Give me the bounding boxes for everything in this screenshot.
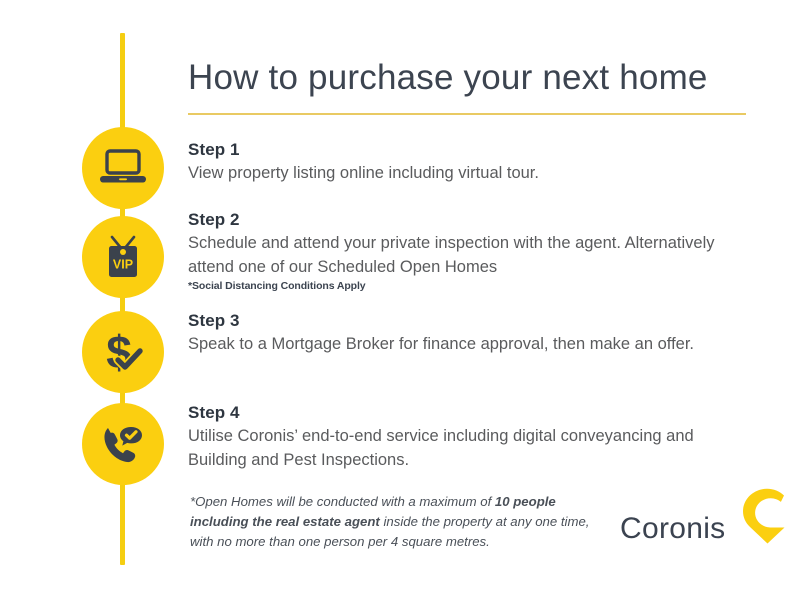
step-item-1: Step 1 View property listing online incl… xyxy=(188,139,750,186)
step-3-heading: Step 3 xyxy=(188,310,750,331)
step-2-note: *Social Distancing Conditions Apply xyxy=(188,280,750,294)
step-4-body: Utilise Coronis’ end-to-end service incl… xyxy=(188,425,750,472)
step-1-body: View property listing online including v… xyxy=(188,162,750,185)
vip-tag-icon: VIP xyxy=(100,233,146,281)
step-item-3: Step 3 Speak to a Mortgage Broker for fi… xyxy=(188,310,750,357)
step-3-body: Speak to a Mortgage Broker for finance a… xyxy=(188,333,750,356)
page-title: How to purchase your next home xyxy=(188,58,708,98)
step-2-body: Schedule and attend your private inspect… xyxy=(188,232,750,279)
coronis-logo: Coronis xyxy=(620,484,790,556)
step-item-4: Step 4 Utilise Coronis’ end-to-end servi… xyxy=(188,402,750,472)
step-1-icon-bubble xyxy=(82,127,164,209)
step-2-icon-bubble: VIP xyxy=(82,216,164,298)
step-item-2: Step 2 Schedule and attend your private … xyxy=(188,209,750,294)
infographic-page: VIP $ How to purchase your next home Ste… xyxy=(0,0,800,600)
dollar-check-icon: $ xyxy=(99,327,147,377)
phone-check-icon xyxy=(98,420,148,468)
timeline-spine xyxy=(120,33,125,565)
step-4-icon-bubble xyxy=(82,403,164,485)
title-divider xyxy=(188,113,746,115)
coronis-c-pin-icon xyxy=(740,484,788,553)
step-4-heading: Step 4 xyxy=(188,402,750,423)
laptop-icon xyxy=(99,148,147,188)
logo-wordmark: Coronis xyxy=(620,512,725,546)
step-1-heading: Step 1 xyxy=(188,139,750,160)
svg-text:VIP: VIP xyxy=(113,258,133,272)
step-3-icon-bubble: $ xyxy=(82,311,164,393)
footnote: *Open Homes will be conducted with a max… xyxy=(190,492,610,551)
step-2-heading: Step 2 xyxy=(188,209,750,230)
footnote-part-1: *Open Homes will be conducted with a max… xyxy=(190,494,495,509)
